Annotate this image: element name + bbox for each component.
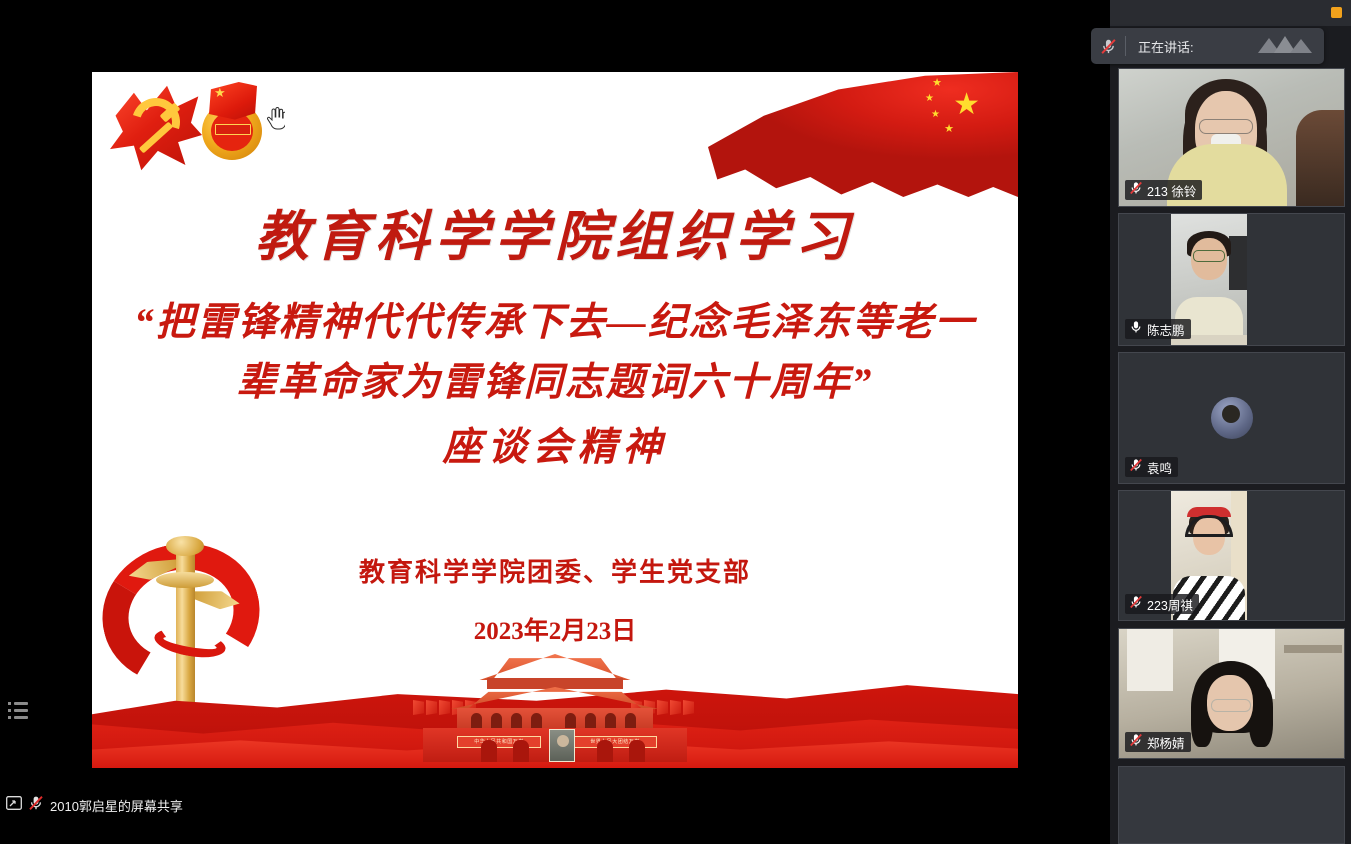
screen-share-icon <box>6 796 22 815</box>
slide-text-block: 教育科学学院组织学习 “把雷锋精神代代传承下去—纪念毛泽东等老一 辈革命家为雷锋… <box>92 192 1018 647</box>
mic-muted-icon <box>1129 595 1143 614</box>
slide-quote-line-2: 辈革命家为雷锋同志题词六十周年” <box>92 353 1018 413</box>
tiananmen-gate-illustration: 中华人民共和国万岁 世界人民大团结万岁 <box>405 654 705 762</box>
speaking-banner: 正在讲话: <box>1091 28 1324 64</box>
participant-name: 陈志鹏 <box>1147 320 1185 339</box>
participant-tile[interactable]: 袁鸣 <box>1118 352 1345 484</box>
hand-pointer-cursor <box>265 106 285 130</box>
participant-name: 袁鸣 <box>1147 458 1172 477</box>
avatar <box>1211 397 1253 439</box>
participant-tile[interactable]: 213 徐铃 <box>1118 68 1345 207</box>
participant-tile[interactable]: 陈志鹏 <box>1118 213 1345 346</box>
participant-name-badge: 郑杨婧 <box>1125 732 1191 752</box>
participant-tile[interactable]: 郑杨婧 <box>1118 628 1345 759</box>
screen-share-region[interactable]: ★★ ★★ ★ ★ <box>0 0 1110 818</box>
participant-tile[interactable]: 223周祺 <box>1118 490 1345 621</box>
china-flag-icon: ★★ ★★ ★ <box>708 72 1018 197</box>
participant-name: 213 徐铃 <box>1147 181 1196 200</box>
slide-quote-line-1: “把雷锋精神代代传承下去—纪念毛泽东等老一 <box>92 293 1018 353</box>
participant-name-badge: 223周祺 <box>1125 594 1199 614</box>
rail-top-bar <box>1110 0 1351 26</box>
participant-name-badge: 213 徐铃 <box>1125 180 1202 200</box>
mao-portrait <box>549 729 575 762</box>
banner-divider <box>1125 36 1126 56</box>
mic-muted-icon <box>1091 38 1125 55</box>
participant-rail[interactable]: 正在讲话: <box>1110 0 1351 844</box>
mic-muted-icon <box>1129 181 1143 200</box>
presentation-slide[interactable]: ★★ ★★ ★ ★ <box>92 72 1018 768</box>
list-icon[interactable] <box>8 700 30 720</box>
mic-on-icon <box>1129 320 1143 339</box>
slide-quote-line-3: 座谈会精神 <box>92 418 1018 478</box>
recording-dot <box>1331 7 1342 18</box>
communist-youth-league-emblem-icon: ★ <box>200 80 264 164</box>
share-status-text: 2010郭启星的屏幕共享 <box>50 796 183 815</box>
mic-muted-icon <box>28 795 44 816</box>
mic-muted-icon <box>1129 733 1143 752</box>
slide-date: 2023年2月23日 <box>92 611 1018 647</box>
meeting-window: ★★ ★★ ★ ★ <box>0 0 1351 844</box>
slide-organization: 教育科学学院团委、学生党支部 <box>92 552 1018 589</box>
participant-tile[interactable] <box>1118 766 1345 844</box>
participant-name: 223周祺 <box>1147 595 1193 614</box>
participant-name: 郑杨婧 <box>1147 733 1185 752</box>
participant-name-badge: 陈志鹏 <box>1125 319 1191 339</box>
cpc-emblem-icon <box>110 84 202 172</box>
slide-title: 教育科学学院组织学习 <box>92 192 1018 271</box>
mountains-icon <box>1258 33 1312 60</box>
participant-name-badge: 袁鸣 <box>1125 457 1178 477</box>
speaking-label: 正在讲话: <box>1138 37 1194 56</box>
share-status-bar: 2010郭启星的屏幕共享 <box>0 792 1110 818</box>
mic-muted-icon <box>1129 458 1143 477</box>
